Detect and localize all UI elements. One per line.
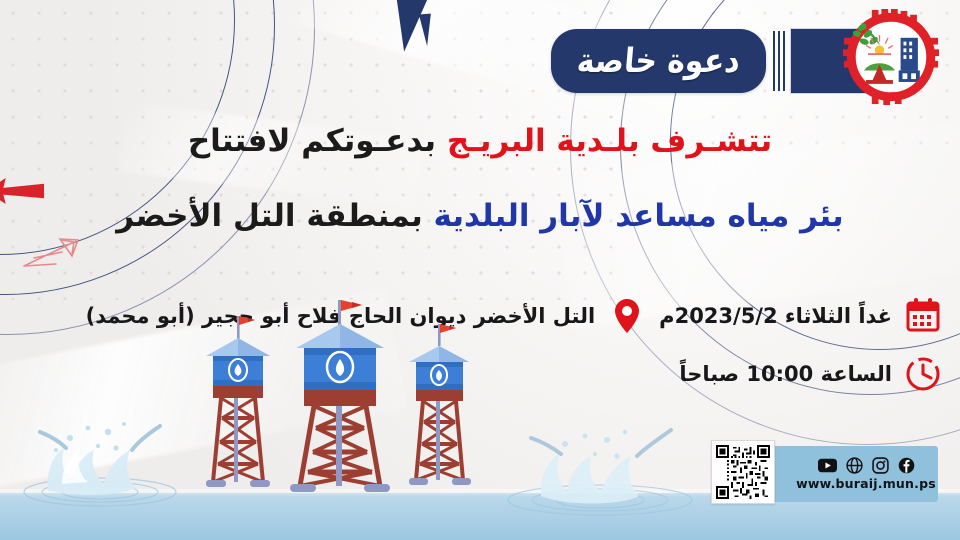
qr-code-image xyxy=(716,445,770,499)
headline-line-2: بئر مياه مساعد لآبار البلدية بمنطقة التل… xyxy=(0,193,960,240)
instagram-icon[interactable] xyxy=(872,457,889,474)
qr-code[interactable] xyxy=(711,440,775,504)
navy-arrow-small-icon xyxy=(419,14,433,47)
website-url[interactable]: www.buraij.mun.ps xyxy=(796,476,936,491)
water-tower-right xyxy=(409,324,471,485)
facebook-icon[interactable] xyxy=(898,457,915,474)
water-tower-center xyxy=(290,300,390,492)
youtube-icon[interactable] xyxy=(818,457,837,474)
time-row: الساعة 10:00 صباحاً xyxy=(679,355,942,393)
banner-divider-lines xyxy=(773,31,785,91)
palestine-local-government-emblem-icon xyxy=(843,9,939,105)
brand-footer-bar: www.buraij.mun.ps xyxy=(748,446,938,502)
clock-icon xyxy=(904,355,942,393)
headline-line-1: تتشـرف بلـدية البريـج بدعـوتكم لافتتاح xyxy=(0,118,960,165)
headline-block: تتشـرف بلـدية البريـج بدعـوتكم لافتتاح ب… xyxy=(0,118,960,239)
location-pin-icon xyxy=(615,299,639,333)
red-arrow-outline-icon xyxy=(22,236,88,270)
headline-line2-black: بمنطقة التل الأخضر xyxy=(116,198,422,234)
headline-line1-red: تتشـرف بلـدية البريـج xyxy=(447,123,772,159)
calendar-icon xyxy=(904,297,942,335)
headline-line1-black: بدعـوتكم لافتتاح xyxy=(188,123,436,159)
social-icons-row xyxy=(818,457,915,474)
water-splash-right-icon xyxy=(495,398,705,518)
invitation-poster: دعوة خاصة xyxy=(0,0,960,540)
special-invitation-banner: دعوة خاصة xyxy=(551,29,766,93)
water-splash-left-icon xyxy=(10,392,190,512)
water-towers-illustration xyxy=(180,300,500,500)
headline-line2-blue: بئر مياه مساعد لآبار البلدية xyxy=(434,198,844,234)
time-text: الساعة 10:00 صباحاً xyxy=(679,362,892,386)
water-tower-left xyxy=(206,316,270,487)
website-globe-icon[interactable] xyxy=(846,457,863,474)
date-text: غداً الثلاثاء 2023/5/2م xyxy=(659,304,892,328)
calligraphy-text: دعوة خاصة xyxy=(575,41,741,80)
